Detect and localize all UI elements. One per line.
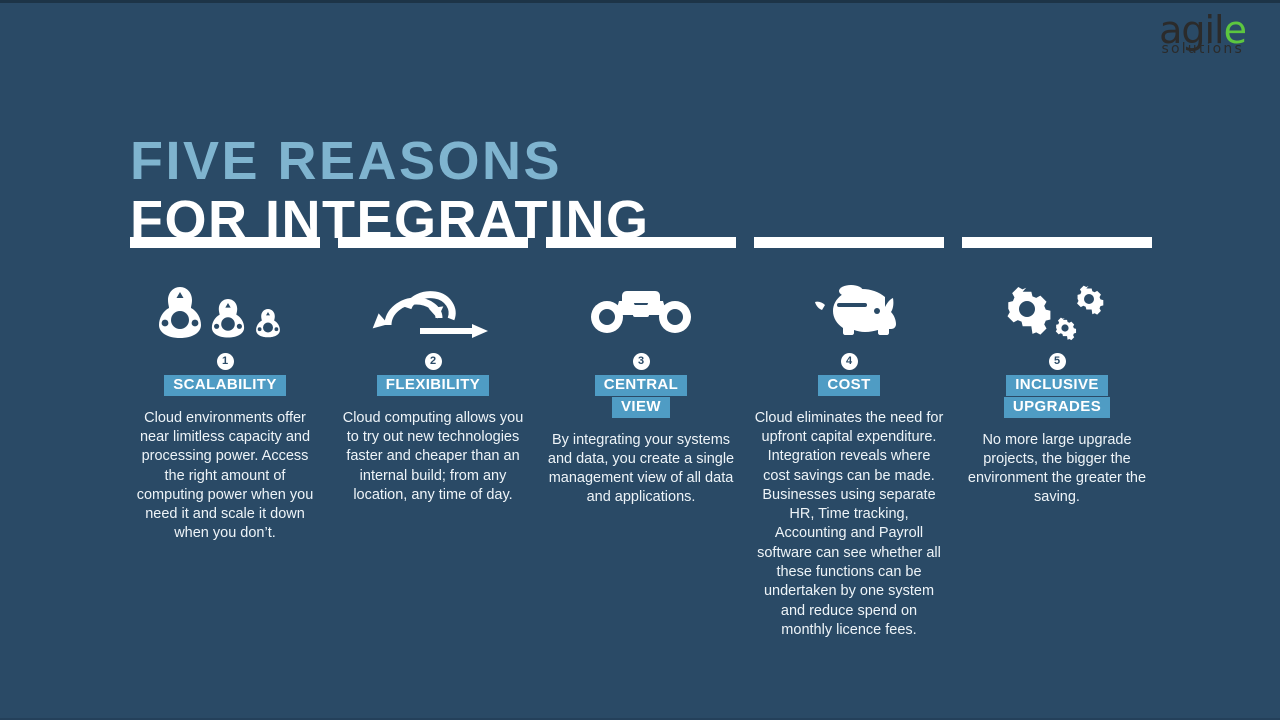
reason-label: COST bbox=[818, 375, 879, 396]
title-line-1: FIVE REASONS bbox=[130, 133, 649, 190]
reason-label-line: FLEXIBILITY bbox=[377, 375, 489, 396]
reason-body-text: Cloud computing allows you to try out ne… bbox=[338, 409, 528, 505]
divider-bar bbox=[962, 237, 1152, 248]
curved-arrows-icon bbox=[358, 281, 508, 343]
reason-column-scalability: 1 SCALABILITY Cloud environments offer n… bbox=[130, 281, 320, 544]
page-title: FIVE REASONS FOR INTEGRATING bbox=[130, 133, 649, 248]
reason-column-flexibility: 2 FLEXIBILITY Cloud computing allows you… bbox=[338, 281, 528, 505]
reason-label: INCLUSIVE UPGRADES bbox=[1004, 375, 1110, 418]
agile-solutions-logo: agile solutions bbox=[1159, 11, 1246, 56]
binoculars-icon bbox=[571, 281, 711, 343]
reason-label-line: UPGRADES bbox=[1004, 397, 1110, 418]
reason-label-line: COST bbox=[818, 375, 879, 396]
reason-number: 3 bbox=[633, 353, 650, 370]
reason-column-central-view: 3 CENTRAL VIEW By integrating your syste… bbox=[546, 281, 736, 508]
reason-columns: 1 SCALABILITY Cloud environments offer n… bbox=[130, 281, 1152, 640]
reason-column-cost: 4 COST Cloud eliminates the need for upf… bbox=[754, 281, 944, 640]
reason-body-text: By integrating your systems and data, yo… bbox=[546, 431, 736, 508]
nesting-dolls-icon bbox=[150, 281, 300, 343]
reason-label-line: INCLUSIVE bbox=[1006, 375, 1108, 396]
divider-bar bbox=[338, 237, 528, 248]
reason-label: SCALABILITY bbox=[164, 375, 286, 396]
reason-body-text: No more large upgrade projects, the bigg… bbox=[962, 431, 1152, 508]
reason-body-text: Cloud eliminates the need for upfront ca… bbox=[754, 409, 944, 640]
reason-column-inclusive-upgrades: 5 INCLUSIVE UPGRADES No more large upgra… bbox=[962, 281, 1152, 508]
infographic-slide: agile solutions FIVE REASONS FOR INTEGRA… bbox=[0, 0, 1280, 720]
divider-bar bbox=[130, 237, 320, 248]
gears-icon bbox=[987, 281, 1127, 343]
divider-bar bbox=[754, 237, 944, 248]
reason-number: 4 bbox=[841, 353, 858, 370]
divider-bar-row bbox=[130, 237, 1152, 248]
reason-label-line: VIEW bbox=[612, 397, 670, 418]
reason-number: 2 bbox=[425, 353, 442, 370]
reason-label: FLEXIBILITY bbox=[377, 375, 489, 396]
logo-subtitle: solutions bbox=[1159, 42, 1244, 56]
reason-body-text: Cloud environments offer near limitless … bbox=[130, 409, 320, 544]
divider-bar bbox=[546, 237, 736, 248]
reason-label-line: SCALABILITY bbox=[164, 375, 286, 396]
piggy-bank-icon bbox=[789, 281, 909, 343]
reason-number: 5 bbox=[1049, 353, 1066, 370]
reason-number: 1 bbox=[217, 353, 234, 370]
reason-label: CENTRAL VIEW bbox=[595, 375, 687, 418]
reason-label-line: CENTRAL bbox=[595, 375, 687, 396]
